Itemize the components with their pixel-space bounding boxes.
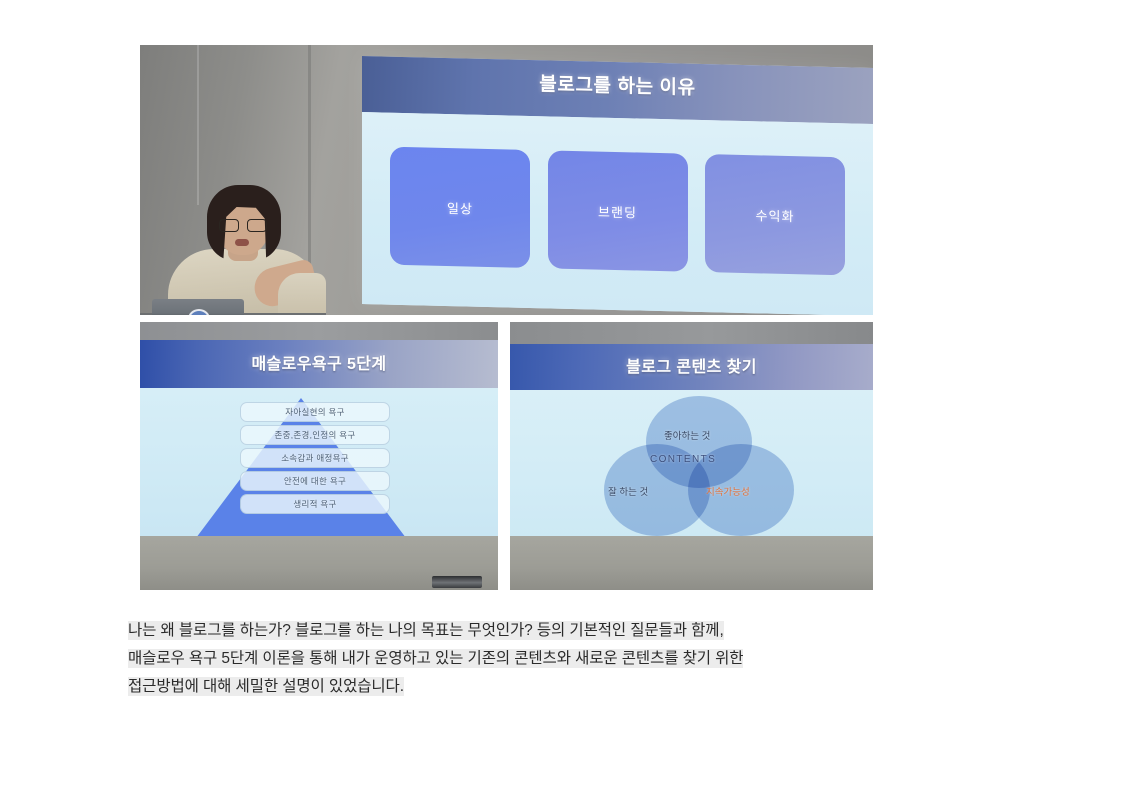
presenter-figure — [162, 181, 332, 315]
maslow-slide-title: 매슬로우욕구 5단계 — [140, 350, 498, 374]
maslow-need-level-4: 존중,존경,인정의 욕구 — [240, 425, 390, 445]
venn-wall-top — [510, 322, 873, 344]
maslow-need-level-2: 안전에 대한 욕구 — [240, 471, 390, 491]
caption-text: 나는 왜 블로그를 하는가? 블로그를 하는 나의 목표는 무엇인가? 등의 기… — [128, 617, 918, 701]
maslow-slide-photo: 매슬로우욕구 5단계 자아실현의 욕구 존중,존경,인정의 욕구 소속감과 애정… — [140, 322, 498, 590]
presenter-glasses — [219, 219, 267, 230]
maslow-wall-top — [140, 322, 498, 342]
projected-slide-1: 블로그를 하는 이유 일상 브랜딩 수익화 — [362, 56, 873, 315]
slide-1-box-1: 일상 — [390, 147, 530, 268]
venn-label-top: 좋아하는 것 — [664, 428, 710, 442]
caption-line-3: 접근방법에 대해 세밀한 설명이 있었습니다. — [128, 673, 918, 701]
venn-diagram: 좋아하는 것 CONTENTS 잘 하는 것 지속가능성 — [598, 396, 798, 536]
maslow-need-level-1: 생리적 욕구 — [240, 494, 390, 514]
presenter-slide-photo: 블로그를 하는 이유 일상 브랜딩 수익화 — [140, 45, 873, 315]
venn-label-left: 잘 하는 것 — [608, 484, 648, 498]
venn-wall-bottom — [510, 536, 873, 590]
venn-slide-body: 좋아하는 것 CONTENTS 잘 하는 것 지속가능성 — [510, 390, 873, 538]
photo-collage: 블로그를 하는 이유 일상 브랜딩 수익화 매슬로우욕 — [140, 45, 873, 590]
slide-1-box-2: 브랜딩 — [548, 150, 688, 271]
maslow-need-level-3: 소속감과 애정욕구 — [240, 448, 390, 468]
slide-1-body: 일상 브랜딩 수익화 — [362, 112, 873, 315]
venn-label-center: CONTENTS — [650, 454, 716, 465]
caption-line-2: 매슬로우 욕구 5단계 이론을 통해 내가 운영하고 있는 기존의 콘텐츠와 새… — [128, 645, 918, 673]
slide-1-box-3: 수익화 — [705, 154, 845, 275]
presenter-mouth — [235, 239, 249, 246]
maslow-wall-bottom — [140, 536, 498, 590]
slide-1-box-row: 일상 브랜딩 수익화 — [390, 147, 845, 276]
maslow-need-list: 자아실현의 욕구 존중,존경,인정의 욕구 소속감과 애정욕구 안전에 대한 욕… — [240, 402, 390, 514]
monitor-edge — [432, 576, 482, 588]
presenter-sleeve — [278, 273, 326, 315]
venn-slide-photo: 블로그 콘텐츠 찾기 좋아하는 것 CONTENTS 잘 하는 것 지속가능성 — [510, 322, 873, 590]
venn-slide-title: 블로그 콘텐츠 찾기 — [510, 353, 873, 377]
venn-label-right: 지속가능성 — [706, 484, 750, 498]
maslow-need-level-5: 자아실현의 욕구 — [240, 402, 390, 422]
maslow-slide-body: 자아실현의 욕구 존중,존경,인정의 욕구 소속감과 애정욕구 안전에 대한 욕… — [140, 388, 498, 536]
caption-line-1: 나는 왜 블로그를 하는가? 블로그를 하는 나의 목표는 무엇인가? 등의 기… — [128, 617, 918, 645]
